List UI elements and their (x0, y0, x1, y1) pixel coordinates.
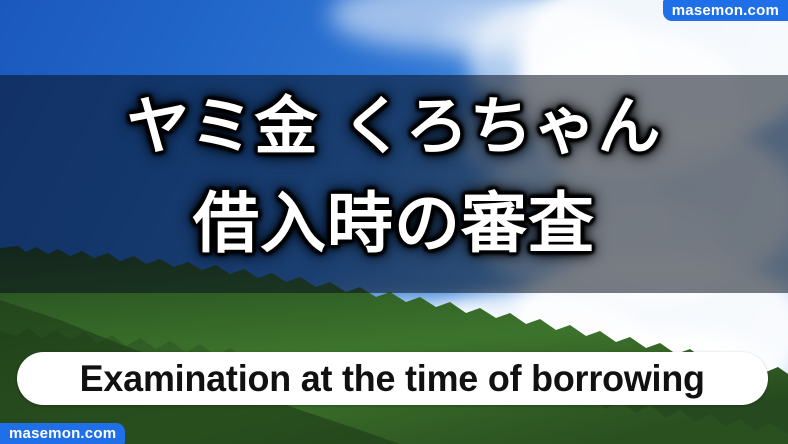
subtitle-text: Examination at the time of borrowing (80, 358, 705, 400)
thumbnail-canvas: ヤミ金 くろちゃん 借入時の審査 Examination at the time… (0, 0, 788, 444)
subtitle-pill: Examination at the time of borrowing (17, 352, 768, 405)
watermark-bottom-left: masemon.com (0, 423, 125, 444)
watermark-top-right: masemon.com (663, 0, 788, 21)
dark-overlay-band (0, 75, 788, 293)
